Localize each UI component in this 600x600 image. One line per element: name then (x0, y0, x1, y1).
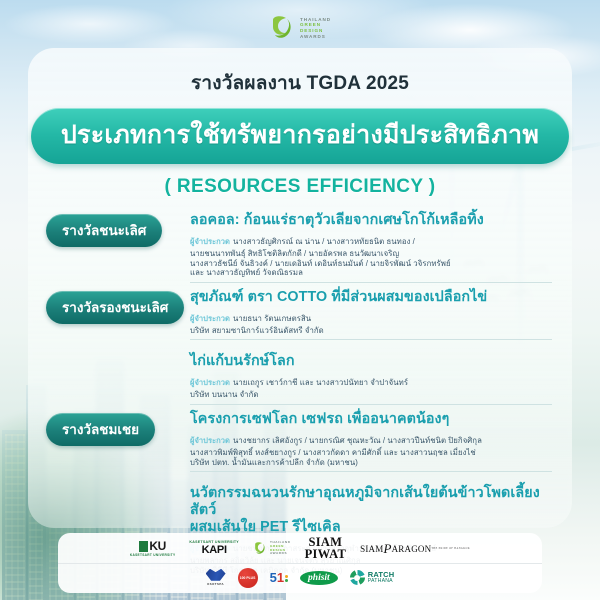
ratch-text: RATCH PATHANA (368, 571, 395, 584)
entry-meta-line: บริษัท สยามซานิการ์แวร์อินดัสทรี จำกัด (190, 326, 552, 336)
category-pill-wrap: ประเภทการใช้ทรัพยากรอย่างมีประสิทธิภาพ (28, 108, 572, 164)
poster-root: THAILAND GREEN DESIGN AWARDS รางวัลผลงาน… (0, 0, 600, 600)
sponsor-row-primary: KU KASETSART UNIVERSITY KASETSART UNIVER… (58, 535, 542, 563)
brand-logo: THAILAND GREEN DESIGN AWARDS (0, 14, 600, 42)
entry-meta-line: บริษัท บนนาน จำกัด (190, 390, 552, 400)
paragon-subtext: THE PRIDE OF BANGKOK (431, 547, 470, 550)
entry-meta-label: ผู้จำประกวด (190, 237, 230, 246)
award-group-runner-up: รางวัลรองชนะเลิศ สุขภัณฑ์ ตรา COTTO ที่ม… (46, 289, 552, 411)
tgda-leaf-icon (253, 541, 267, 556)
entry-meta: ผู้จำประกวดนายธนา รัตนเกษตรสิน บริษัท สย… (190, 308, 552, 336)
brand-word-3: AWARDS (300, 34, 331, 40)
fiftyone-logo: 5 1 (270, 571, 288, 584)
tgda-leaf-icon (269, 14, 295, 42)
ku-letters: KU (149, 540, 166, 552)
award-entry: ไก่แก้บนรักษ์โลก ผู้จำประกวดนายเถกูร เชา… (190, 346, 552, 411)
entry-meta-line: นายชนนาทพันธุ์ สิทธิโชติลิตกักดี / นายอั… (190, 249, 552, 259)
entry-divider (190, 471, 552, 472)
ratch-mark-icon (350, 570, 365, 585)
osotspa-logo: OSOTSPA (206, 569, 226, 587)
ku-subtext: KASETSART UNIVERSITY (130, 554, 176, 557)
entry-meta-line: นายเถกูร เชาว์กาชี และ นางสาวปนัทยา จำปา… (233, 378, 408, 387)
phisit-logo: phisit (300, 571, 338, 585)
entry-title: ไก่แก้บนรักษ์โลก (190, 353, 552, 370)
entry-divider (190, 339, 552, 340)
tgda-footer-words: THAILAND GREEN DESIGN AWARDS (270, 541, 291, 556)
paragon-aragon: ARAGON (392, 544, 432, 554)
fiftyone-dots-icon (285, 575, 288, 582)
main-card: รางวัลผลงาน TGDA 2025 ประเภทการใช้ทรัพยา… (28, 48, 572, 528)
award-entry: โครงการเซฟโลก เซฟรถ เพื่ออนาคตน้องๆ ผู้จ… (190, 411, 552, 478)
entry-meta-line: นางชยากร เลิศอังกูร / นายกรณิศ ชุณหะวัณ … (233, 436, 482, 445)
badge-col: รางวัลรองชนะเลิศ (46, 289, 186, 324)
award-entries-winner: ลอคอล: ก้อนแร่ธาตุวัวเลียจากเศษโกโก้เหลื… (186, 212, 552, 289)
fiftyone-digit-2: 1 (277, 571, 284, 584)
entry-meta: ผู้จำประกวดนายเถกูร เชาว์กาชี และ นางสาว… (190, 372, 552, 400)
osotspa-mark-icon (206, 569, 226, 581)
entry-title: โครงการเซฟโลก เซฟรถ เพื่ออนาคตน้องๆ (190, 411, 552, 428)
red-circle-logo: 100 PLUS (238, 568, 258, 588)
award-entries-runner-up: สุขภัณฑ์ ตรา COTTO ที่มีส่วนผสมของเปลือก… (186, 289, 552, 411)
fiftyone-digit-1: 5 (270, 571, 277, 584)
red-circle-text: 100 PLUS (240, 576, 256, 580)
paragon-siam: SIAM (360, 544, 383, 554)
award-badge-runner-up: รางวัลรองชนะเลิศ (46, 291, 184, 324)
ku-square-icon (139, 541, 148, 552)
badge-col: รางวัลชนะเลิศ (46, 212, 186, 247)
award-entry: สุขภัณฑ์ ตรา COTTO ที่มีส่วนผสมของเปลือก… (190, 289, 552, 347)
entry-title: นวัตกรรมฉนวนรักษาอุณหภูมิจากเส้นใยต้นข้า… (190, 485, 552, 519)
entry-title: สุขภัณฑ์ ตรา COTTO ที่มีส่วนผสมของเปลือก… (190, 289, 552, 306)
entry-meta-line: นางสาวธัญศิกรณ์ ณ น่าน / นางสาวหทัยธนิต … (233, 237, 415, 246)
paragon-script-p: P (383, 541, 391, 557)
tgda-footer-word-3: AWARDS (270, 552, 291, 556)
page-headline: รางวัลผลงาน TGDA 2025 (28, 68, 572, 98)
osotspa-text: OSOTSPA (207, 582, 224, 586)
sponsor-row-secondary: OSOTSPA 100 PLUS 5 1 phisit RATCH PATHAN… (58, 563, 542, 592)
entry-meta-line: และ นางสาวธัญทิพย์ วัจดณิธรมล (190, 268, 552, 278)
tgda-footer-logo: THAILAND GREEN DESIGN AWARDS (253, 541, 291, 556)
kapi-logo: KASETSART UNIVERSITY KAPI (189, 541, 239, 557)
entry-meta: ผู้จำประกวดนางสาวธัญศิกรณ์ ณ น่าน / นางส… (190, 231, 552, 278)
award-badge-winner: รางวัลชนะเลิศ (46, 214, 162, 247)
entry-meta-label: ผู้จำประกวด (190, 436, 230, 445)
kapi-main-text: KAPI (202, 545, 227, 556)
ku-logo: KU KASETSART UNIVERSITY (130, 540, 176, 557)
award-entry: ลอคอล: ก้อนแร่ธาตุวัวเลียจากเศษโกโก้เหลื… (190, 212, 552, 289)
entry-title: ลอคอล: ก้อนแร่ธาตุวัวเลียจากเศษโกโก้เหลื… (190, 212, 552, 229)
entry-meta-line: นางสาวพิมพ์พิสุทธิ์ หงส์ชยางกูร / นางสาว… (190, 448, 552, 458)
entry-meta-line: นายธนา รัตนเกษตรสิน (233, 314, 311, 323)
award-badge-consolation: รางวัลชมเชย (46, 413, 155, 446)
entry-divider (190, 282, 552, 283)
ratch-pathana-logo: RATCH PATHANA (350, 570, 395, 585)
award-group-winner: รางวัลชนะเลิศ ลอคอล: ก้อนแร่ธาตุวัวเลียจ… (46, 212, 552, 289)
entry-meta-line: นางสาวธัชนีย์ จันธิวงค์ / นายเดอินท์ เดอ… (190, 259, 552, 269)
siam-piwat-logo: SIAM PIWAT (305, 537, 347, 561)
entry-meta: ผู้จำประกวดนางชยากร เลิศอังกูร / นายกรณิ… (190, 430, 552, 467)
siam-paragon-logo: SIAMPARAGON THE PRIDE OF BANGKOK (360, 541, 470, 557)
ratch-line2: PATHANA (368, 579, 395, 584)
awards-list: รางวัลชนะเลิศ ลอคอล: ก้อนแร่ธาตุวัวเลียจ… (28, 212, 572, 581)
entry-divider (190, 404, 552, 405)
entry-meta-label: ผู้จำประกวด (190, 378, 230, 387)
entry-meta-label: ผู้จำประกวด (190, 314, 230, 323)
entry-meta-line: บริษัท ปตท. น้ำมันและการค้าปลีก จำกัด (ม… (190, 458, 552, 468)
category-subtitle: ( RESOURCES EFFICIENCY ) (28, 176, 572, 198)
badge-col: รางวัลชมเชย (46, 411, 186, 446)
category-title-pill: ประเภทการใช้ทรัพยากรอย่างมีประสิทธิภาพ (31, 108, 569, 164)
brand-logo-words: THAILAND GREEN DESIGN AWARDS (300, 17, 331, 39)
sponsor-footer: KU KASETSART UNIVERSITY KASETSART UNIVER… (58, 533, 542, 593)
siam-piwat-line2: PIWAT (305, 549, 347, 561)
